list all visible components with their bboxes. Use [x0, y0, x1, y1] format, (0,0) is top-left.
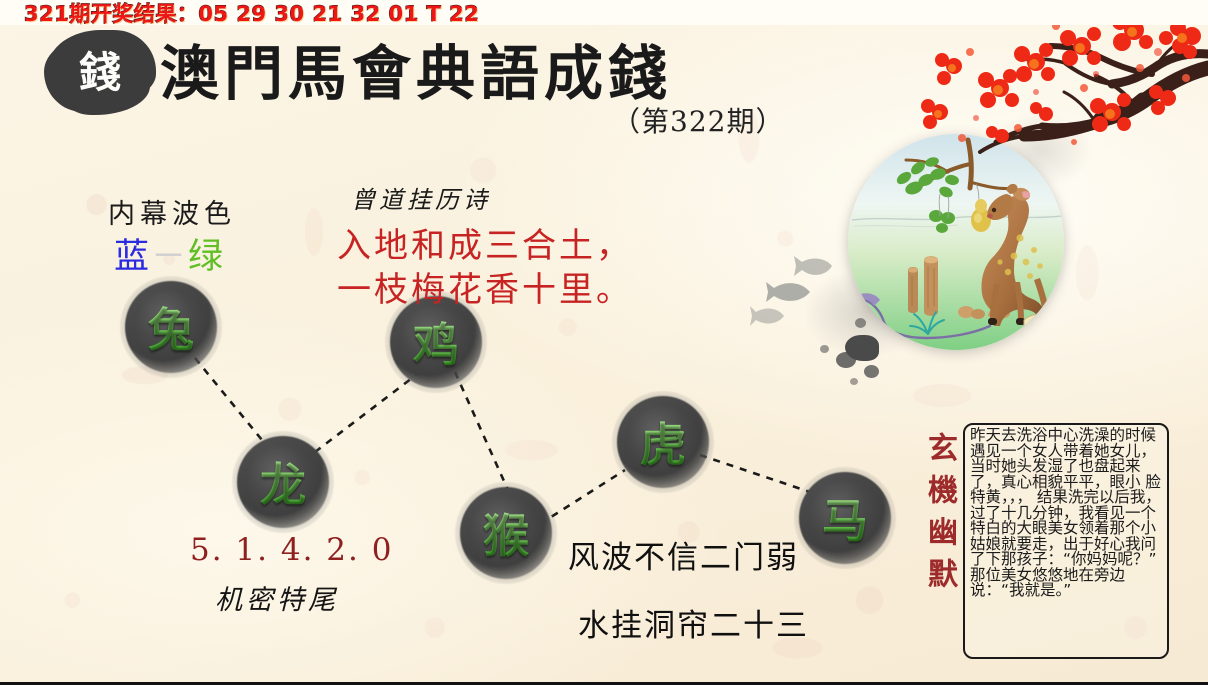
zodiac-node-虎[interactable]: 虎 — [617, 396, 709, 488]
deer-illustration — [848, 134, 1064, 350]
zodiac-node-马[interactable]: 马 — [799, 472, 891, 564]
bose-separator: － — [151, 237, 188, 277]
secret-numbers-label: 机密特尾 — [215, 578, 339, 617]
seal-character: 錢 — [48, 30, 152, 110]
page-title: 澳門馬會典語成錢 — [160, 26, 672, 111]
bose-colors: 蓝－绿 — [114, 228, 225, 279]
bose-color-1: 蓝 — [114, 237, 151, 277]
bose-label: 内幕波色 — [108, 192, 236, 231]
result-banner: 321期开奖结果：05 29 30 21 32 01 T 22 — [0, 0, 1208, 25]
zodiac-node-猴[interactable]: 猴 — [460, 487, 552, 579]
poem-line-2: 一枝梅花香十里。 — [337, 262, 633, 311]
zodiac-node-label: 马 — [799, 472, 891, 564]
poem-line-1: 入地和成三合土， — [337, 218, 633, 267]
zodiac-node-label: 兔 — [125, 281, 217, 373]
humor-vertical-title: 玄機幽默 — [914, 432, 954, 600]
illustration-panel — [830, 118, 1080, 370]
poem-heading: 曾道挂历诗 — [351, 180, 491, 215]
secret-numbers: 5. 1. 4. 2. 0 — [190, 532, 393, 568]
lottery-poster: 321期开奖结果：05 29 30 21 32 01 T 22 — [0, 0, 1208, 685]
issue-number: （第322期） — [612, 100, 784, 140]
zodiac-node-label: 龙 — [237, 436, 329, 528]
seal-stamp: 錢 — [48, 30, 152, 110]
result-banner-text: 321期开奖结果：05 29 30 21 32 01 T 22 — [24, 0, 479, 25]
zodiac-node-label: 猴 — [460, 487, 552, 579]
zodiac-node-兔[interactable]: 兔 — [125, 281, 217, 373]
zodiac-node-龙[interactable]: 龙 — [237, 436, 329, 528]
side-verse-line-2: 水挂洞帘二十三 — [578, 600, 809, 645]
bose-color-2: 绿 — [188, 237, 225, 277]
side-verse-line-1: 风波不信二门弱 — [568, 532, 799, 577]
humor-text: 昨天去洗浴中心洗澡的时候遇见一个女人带着她女儿，当时她头发湿了也盘起来了，真心相… — [970, 428, 1169, 599]
humor-text-box: 昨天去洗浴中心洗澡的时候遇见一个女人带着她女儿，当时她头发湿了也盘起来了，真心相… — [963, 423, 1169, 659]
zodiac-node-label: 虎 — [617, 396, 709, 488]
